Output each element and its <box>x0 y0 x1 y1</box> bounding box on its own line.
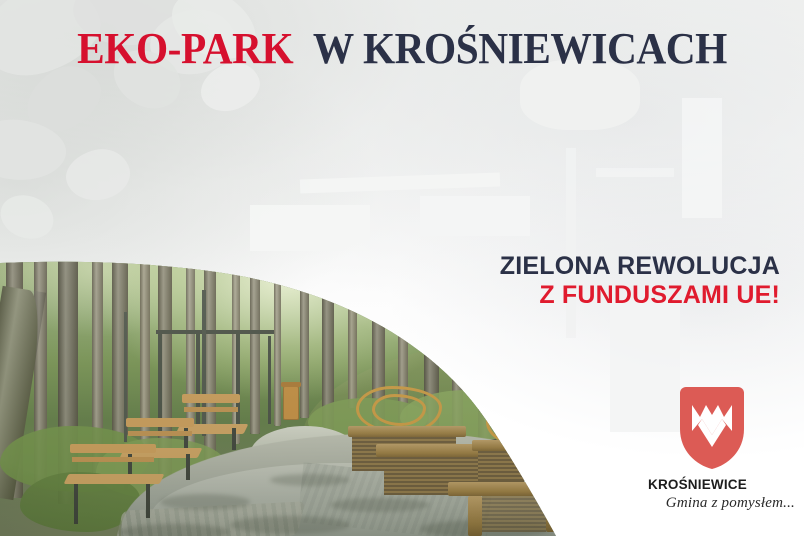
poster-canvas: EKO-PARK W KROŚNIEWICACH ZIELONA REWOLUC… <box>0 0 804 536</box>
subtitle-line-2: Z FUNDUSZAMI UE! <box>500 281 780 310</box>
municipality-logo: KROŚNIEWICE Gmina z pomysłem... <box>645 385 795 515</box>
coat-of-arms-shield-icon <box>676 385 748 471</box>
page-title-rest: W KROŚNIEWICACH <box>313 24 727 73</box>
background-ghost-shape <box>682 98 722 218</box>
subtitle: ZIELONA REWOLUCJA Z FUNDUSZAMI UE! <box>500 252 780 310</box>
background-ghost-shape <box>250 205 370 251</box>
logo-wordmark: KROŚNIEWICE <box>645 477 798 492</box>
background-ghost-shape <box>420 196 530 236</box>
page-title-highlight: EKO-PARK <box>77 24 293 73</box>
page-title: EKO-PARK W KROŚNIEWICACH <box>24 26 780 72</box>
logo-tagline: Gmina z pomysłem... <box>645 495 799 512</box>
background-ghost-shape <box>596 168 674 177</box>
subtitle-line-1: ZIELONA REWOLUCJA <box>500 252 780 281</box>
